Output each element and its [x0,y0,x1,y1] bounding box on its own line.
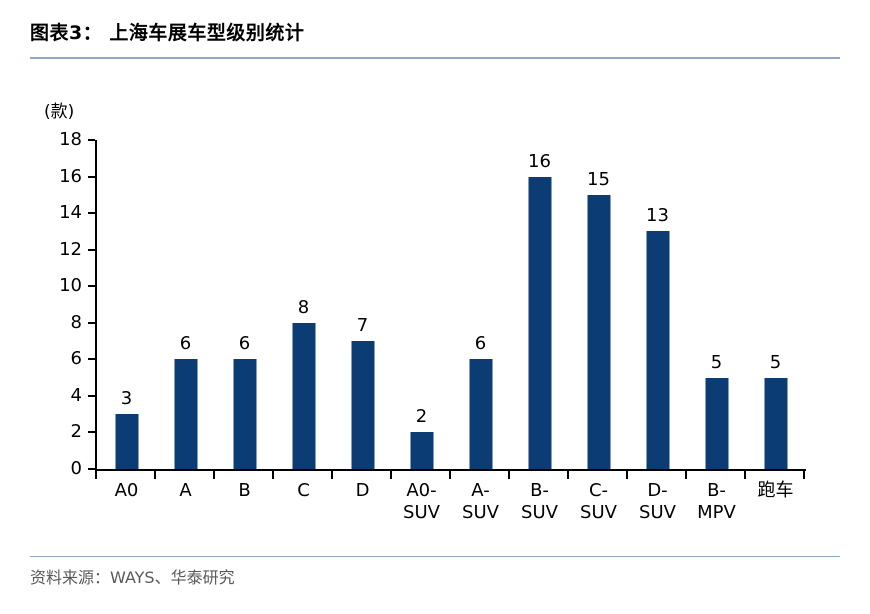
x-axis-tick [685,471,687,479]
y-axis-tick-value: 0 [40,460,82,478]
y-axis-tick [88,139,95,141]
bar-value-label: 16 [528,153,551,171]
y-axis-tick-label: 18 [0,131,82,149]
y-axis-unit-label: (款) [44,97,74,122]
bar-value-label: 5 [711,354,722,372]
bar-rect[interactable] [705,378,728,469]
bar-item[interactable]: 6 [451,140,510,469]
y-axis-tick-value: 14 [40,204,82,222]
y-axis-tick [88,322,95,324]
x-axis-tick [567,471,569,479]
x-axis-tick [390,471,392,479]
y-axis-tick [88,468,95,470]
bar-rect[interactable] [764,378,787,469]
x-axis-category-label: C [274,480,333,502]
x-axis-category-label: A0 [97,480,156,502]
bar-rect[interactable] [115,414,138,469]
y-axis-tick [88,176,95,178]
chart-plot-area: (款) 181614121086420 366872616151355 A0AB… [0,0,870,614]
x-axis-tick [508,471,510,479]
source-note: 资料来源：WAYS、华泰研究 [30,567,235,589]
bar-value-label: 7 [357,317,368,335]
x-axis-labels: A0ABCDA0- SUVA- SUVB- SUVC- SUVD- SUVB- … [97,480,805,540]
bar-item[interactable]: 13 [628,140,687,469]
x-axis-category-label: D- SUV [628,480,687,524]
x-axis-tick [449,471,451,479]
bar-rect[interactable] [174,359,197,469]
bar-rect[interactable] [587,195,610,469]
x-axis-category-label: B [215,480,274,502]
bar-item[interactable]: 7 [333,140,392,469]
bar-item[interactable]: 5 [687,140,746,469]
bar-value-label: 2 [416,408,427,426]
bar-item[interactable]: 2 [392,140,451,469]
x-axis-category-label: A0- SUV [392,480,451,524]
x-axis-tick [272,471,274,479]
y-axis-tick-label: 10 [0,277,82,295]
x-axis-tick [626,471,628,479]
bar-item[interactable]: 15 [569,140,628,469]
bar-rect[interactable] [469,359,492,469]
bar-value-label: 8 [298,299,309,317]
bar-rect[interactable] [528,177,551,469]
bar-value-label: 6 [475,335,486,353]
x-axis-tick [744,471,746,479]
x-axis-category-label: 跑车 [746,480,805,502]
x-axis-tick [95,471,97,479]
x-axis-category-label: A [156,480,215,502]
y-axis-tick [88,431,95,433]
y-axis-tick-label: 4 [0,387,82,405]
y-axis-tick-label: 2 [0,423,82,441]
y-axis-tick-label: 12 [0,241,82,259]
bar-rect[interactable] [292,323,315,469]
bar-item[interactable]: 3 [97,140,156,469]
bar-rect[interactable] [233,359,256,469]
footer-divider [30,556,840,557]
x-axis-category-label: B- MPV [687,480,746,524]
y-axis-tick-value: 6 [40,350,82,368]
y-axis-tick-label: 6 [0,350,82,368]
y-axis-tick-value: 8 [40,314,82,332]
bar-value-label: 3 [121,390,132,408]
y-axis-tick [88,249,95,251]
y-axis-tick [88,358,95,360]
bar-item[interactable]: 6 [156,140,215,469]
y-axis-tick [88,395,95,397]
y-axis-tick [88,212,95,214]
x-axis-tick [213,471,215,479]
figure-container: 图表3： 上海车展车型级别统计 (款) 181614121086420 3668… [0,0,870,614]
x-axis-tick [803,471,805,479]
y-axis-tick-label: 0 [0,460,82,478]
bar-series: 366872616151355 [97,140,805,469]
y-axis-tick-label: 14 [0,204,82,222]
x-axis-category-label: C- SUV [569,480,628,524]
y-axis-tick-value: 2 [40,423,82,441]
x-axis-category-label: D [333,480,392,502]
y-axis-tick-value: 18 [40,131,82,149]
bar-value-label: 15 [587,171,610,189]
bar-value-label: 6 [180,335,191,353]
x-axis-tick [154,471,156,479]
y-axis-tick-label: 8 [0,314,82,332]
y-axis-tick-value: 12 [40,241,82,259]
bar-rect[interactable] [646,231,669,469]
bar-item[interactable]: 8 [274,140,333,469]
bar-value-label: 6 [239,335,250,353]
bar-rect[interactable] [351,341,374,469]
y-axis-tick-value: 4 [40,387,82,405]
bar-item[interactable]: 6 [215,140,274,469]
y-axis-tick-label: 16 [0,168,82,186]
y-axis-tick-value: 10 [40,277,82,295]
bar-rect[interactable] [410,432,433,469]
x-axis-tick [331,471,333,479]
bar-item[interactable]: 5 [746,140,805,469]
y-axis-tick-value: 16 [40,168,82,186]
x-axis-category-label: A- SUV [451,480,510,524]
x-axis-category-label: B- SUV [510,480,569,524]
bar-value-label: 5 [770,354,781,372]
bar-value-label: 13 [646,207,669,225]
bar-item[interactable]: 16 [510,140,569,469]
y-axis-tick [88,285,95,287]
